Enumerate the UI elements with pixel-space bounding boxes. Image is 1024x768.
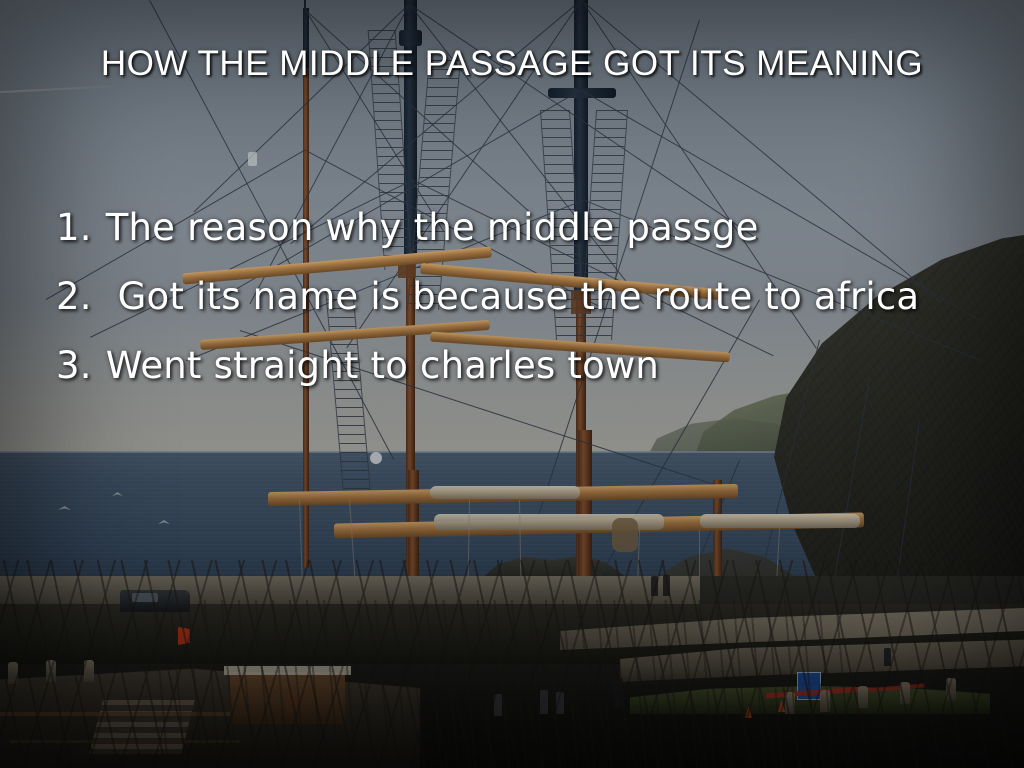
list-item: 3. Went straight to charles town	[56, 344, 1006, 387]
list-item-number: 3.	[56, 344, 92, 387]
slide-text-layer: HOW THE MIDDLE PASSAGE GOT ITS MEANING 1…	[0, 0, 1024, 768]
list-item: 1. The reason why the middle passge	[56, 206, 1006, 249]
bullet-list: 1. The reason why the middle passge 2. G…	[56, 206, 1006, 413]
page-title: HOW THE MIDDLE PASSAGE GOT ITS MEANING	[0, 44, 1024, 84]
list-item-text: Went straight to charles town	[106, 344, 1006, 387]
list-item: 2. Got its name is because the route to …	[56, 275, 1006, 318]
list-item-text: Got its name is because the route to afr…	[106, 275, 1006, 318]
list-item-number: 1.	[56, 206, 92, 249]
list-item-text: The reason why the middle passge	[106, 206, 1006, 249]
presentation-slide: HOW THE MIDDLE PASSAGE GOT ITS MEANING 1…	[0, 0, 1024, 768]
list-item-number: 2.	[56, 275, 92, 318]
